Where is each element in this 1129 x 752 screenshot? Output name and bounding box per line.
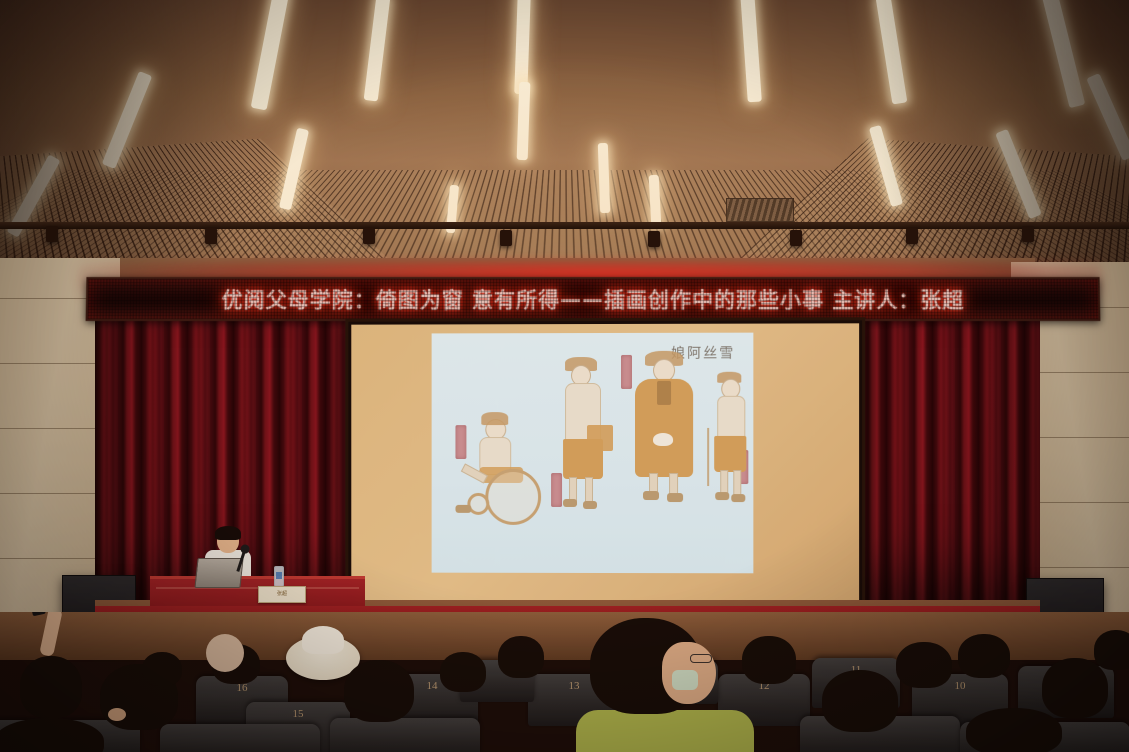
stage-curtain-right bbox=[840, 316, 1040, 616]
audience-head bbox=[344, 660, 414, 722]
audience-head bbox=[966, 708, 1062, 752]
stage-spotlight bbox=[790, 230, 802, 246]
figure-skirt bbox=[714, 436, 746, 472]
figure-shoe bbox=[643, 491, 659, 500]
audience-head bbox=[142, 652, 182, 686]
led-banner-text: 优阅父母学院：倚图为窗 意有所得——插画创作中的那些小事 主讲人：张超 bbox=[88, 279, 1099, 319]
stage-spotlight bbox=[1022, 226, 1034, 242]
stage-spotlight bbox=[906, 228, 918, 244]
illustration-tag bbox=[621, 355, 632, 389]
figure-shoe bbox=[715, 492, 729, 500]
audience-head bbox=[20, 656, 82, 718]
figure-shoe bbox=[667, 493, 683, 502]
water-bottle bbox=[274, 566, 284, 588]
audience-head bbox=[958, 634, 1010, 678]
stage-spotlight bbox=[205, 228, 217, 244]
audience-head bbox=[498, 636, 544, 678]
stage-spotlight bbox=[46, 226, 58, 242]
figure-hat bbox=[481, 412, 508, 425]
figure-shoe bbox=[583, 501, 597, 509]
presenter-laptop bbox=[194, 558, 243, 588]
masked-man-shirt bbox=[576, 710, 754, 752]
illustration-figure-4 bbox=[703, 372, 753, 527]
figure-shoe bbox=[731, 494, 745, 502]
name-card-text: 张超 bbox=[259, 587, 305, 602]
figure-leg bbox=[733, 470, 741, 496]
illustration-tag bbox=[551, 473, 562, 507]
illustration-figure-2 bbox=[549, 357, 615, 527]
illustration-figure-3 bbox=[627, 347, 701, 527]
figure-cane bbox=[707, 428, 709, 486]
face-mask bbox=[672, 670, 698, 690]
screen-surface: 娘阿丝雪 bbox=[351, 323, 859, 606]
audience-head bbox=[440, 652, 486, 692]
figure-bag bbox=[587, 425, 613, 451]
presenter-hair bbox=[215, 526, 241, 540]
audience-head bbox=[742, 636, 796, 684]
led-banner: 优阅父母学院：倚图为窗 意有所得——插画创作中的那些小事 主讲人：张超 bbox=[86, 277, 1101, 321]
figure-shoe bbox=[563, 499, 577, 507]
figure-shoe bbox=[455, 505, 471, 513]
audience-head bbox=[896, 642, 952, 688]
illustration-tag bbox=[455, 425, 466, 459]
audience-head bbox=[1042, 658, 1108, 718]
presentation-slide: 娘阿丝雪 bbox=[432, 333, 754, 574]
figure-collar bbox=[657, 381, 671, 405]
audience-area: 16 15 14 13 12 11 10 bbox=[0, 612, 1129, 752]
illustration-figure-1 bbox=[450, 397, 542, 527]
projection-screen: 娘阿丝雪 bbox=[345, 317, 865, 612]
seat-front[interactable] bbox=[330, 718, 480, 752]
auditorium-photo: 优阅父母学院：倚图为窗 意有所得——插画创作中的那些小事 主讲人：张超 娘阿丝雪 bbox=[0, 0, 1129, 752]
seat-front[interactable] bbox=[160, 724, 320, 752]
stage-spotlight bbox=[363, 228, 375, 244]
stage-spotlight bbox=[500, 230, 512, 246]
audience-hand bbox=[108, 708, 126, 721]
lighting-truss bbox=[0, 222, 1129, 229]
masked-man-glasses bbox=[690, 654, 712, 663]
audience-head-light bbox=[206, 634, 244, 672]
stage-spotlight bbox=[648, 231, 660, 247]
wheelchair-wheel bbox=[485, 469, 541, 525]
audience-head bbox=[822, 670, 898, 732]
presenter-name-card: 张超 bbox=[258, 586, 306, 603]
figure-hands bbox=[653, 433, 673, 446]
audience-head bbox=[1094, 630, 1129, 670]
